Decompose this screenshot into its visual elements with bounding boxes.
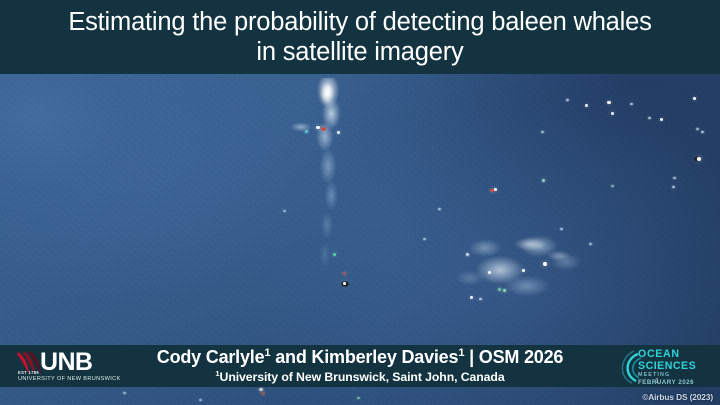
author-conjunction: and Kimberley Davies [270,347,458,367]
osm-line-meeting: MEETING [638,373,696,378]
image-credit: ©Airbus DS (2023) [642,392,713,402]
osm-logo-text: OCEAN SCIENCES MEETING FEBRUARY 2026 [638,349,696,386]
slide-number: 1 [655,378,659,385]
ocean-sciences-meeting-logo: OCEAN SCIENCES MEETING FEBRUARY 2026 [612,348,712,386]
unb-est-label: EST 1785 [18,370,39,375]
conference-label: | OSM 2026 [464,347,563,367]
unb-logo: UNB EST 1785 UNIVERSITY OF NEW BRUNSWICK [14,351,132,385]
slide-title-bar: Estimating the probability of detecting … [0,0,720,74]
affiliation-line: 1University of New Brunswick, Saint John… [215,370,504,385]
footer-credits: Cody Carlyle1 and Kimberley Davies1 | OS… [138,345,582,387]
slide-title: Estimating the probability of detecting … [54,7,665,67]
presentation-slide: Estimating the probability of detecting … [0,0,720,405]
osm-line-date: FEBRUARY 2026 [638,380,696,386]
author-line: Cody Carlyle1 and Kimberley Davies1 | OS… [157,347,563,368]
osm-line-ocean: OCEAN [638,349,696,360]
unb-wordmark: UNB [40,350,92,375]
unb-full-name: UNIVERSITY OF NEW BRUNSWICK [18,376,121,382]
author-one: Cody Carlyle [157,347,265,367]
osm-line-sciences: SCIENCES [638,361,696,372]
affiliation-text: University of New Brunswick, Saint John,… [220,370,505,384]
